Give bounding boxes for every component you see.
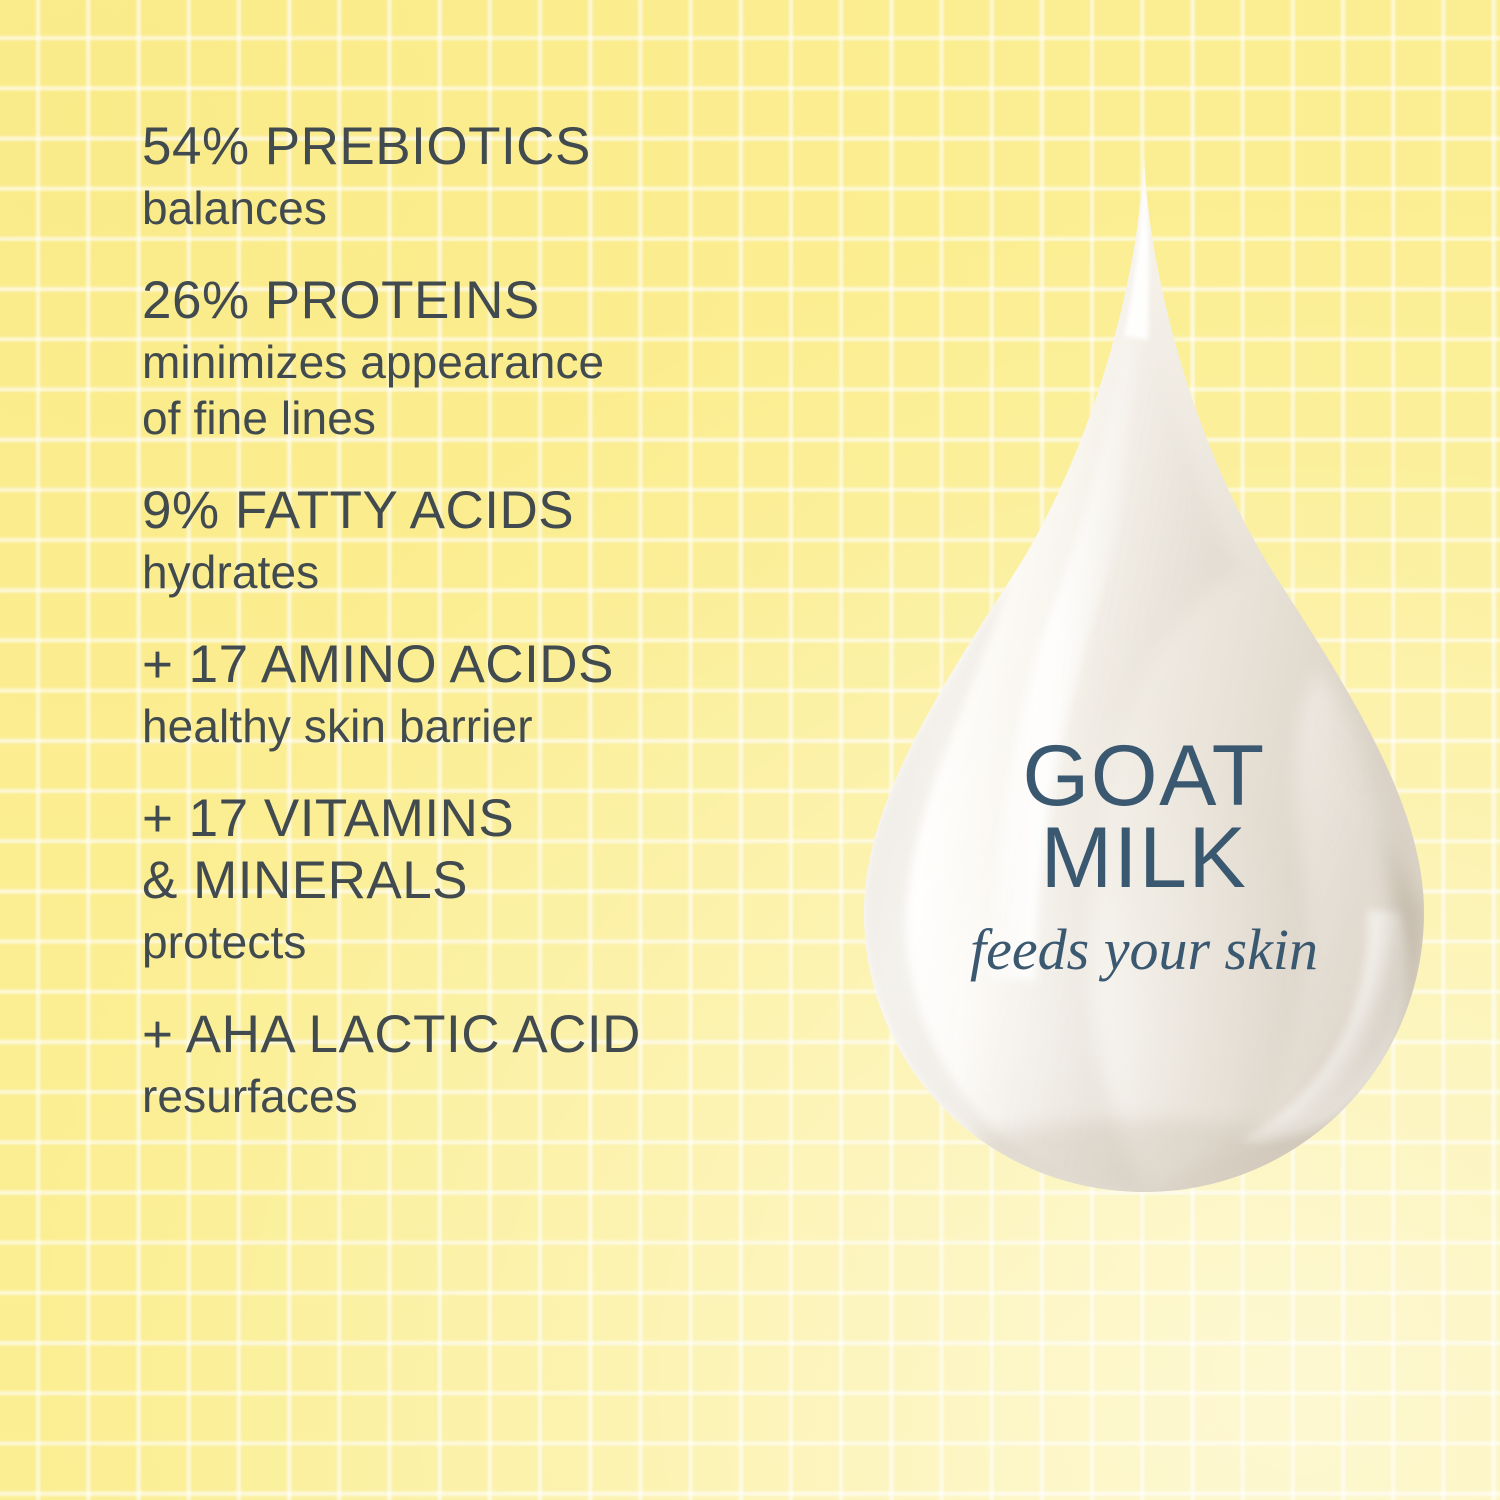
ingredient-description: hydrates: [142, 544, 862, 600]
ingredient-description: healthy skin barrier: [142, 698, 862, 754]
ingredient-item-prebiotics: 54% PREBIOTICS balances: [142, 116, 862, 236]
ingredient-description: protects: [142, 914, 862, 970]
ingredient-heading: 26% PROTEINS: [142, 270, 862, 332]
ingredient-heading: + 17 AMINO ACIDS: [142, 634, 862, 696]
ingredient-description: balances: [142, 180, 862, 236]
ingredient-item-aha-lactic-acid: + AHA LACTIC ACID resurfaces: [142, 1004, 862, 1124]
ingredient-item-proteins: 26% PROTEINS minimizes appearance of fin…: [142, 270, 862, 446]
ingredient-description: minimizes appearance of fine lines: [142, 334, 862, 446]
ingredient-item-amino-acids: + 17 AMINO ACIDS healthy skin barrier: [142, 634, 862, 754]
product-infographic: 54% PREBIOTICS balances 26% PROTEINS min…: [0, 0, 1500, 1500]
ingredient-heading: 54% PREBIOTICS: [142, 116, 862, 178]
ingredient-item-fatty-acids: 9% FATTY ACIDS hydrates: [142, 480, 862, 600]
ingredient-description: resurfaces: [142, 1068, 862, 1124]
ingredient-item-vitamins-minerals: + 17 VITAMINS & MINERALS protects: [142, 788, 862, 970]
ingredient-heading: + 17 VITAMINS & MINERALS: [142, 788, 862, 912]
ingredient-list: 54% PREBIOTICS balances 26% PROTEINS min…: [142, 116, 862, 1124]
ingredient-heading: + AHA LACTIC ACID: [142, 1004, 862, 1066]
ingredient-heading: 9% FATTY ACIDS: [142, 480, 862, 542]
milk-droplet-icon: [848, 150, 1440, 1198]
